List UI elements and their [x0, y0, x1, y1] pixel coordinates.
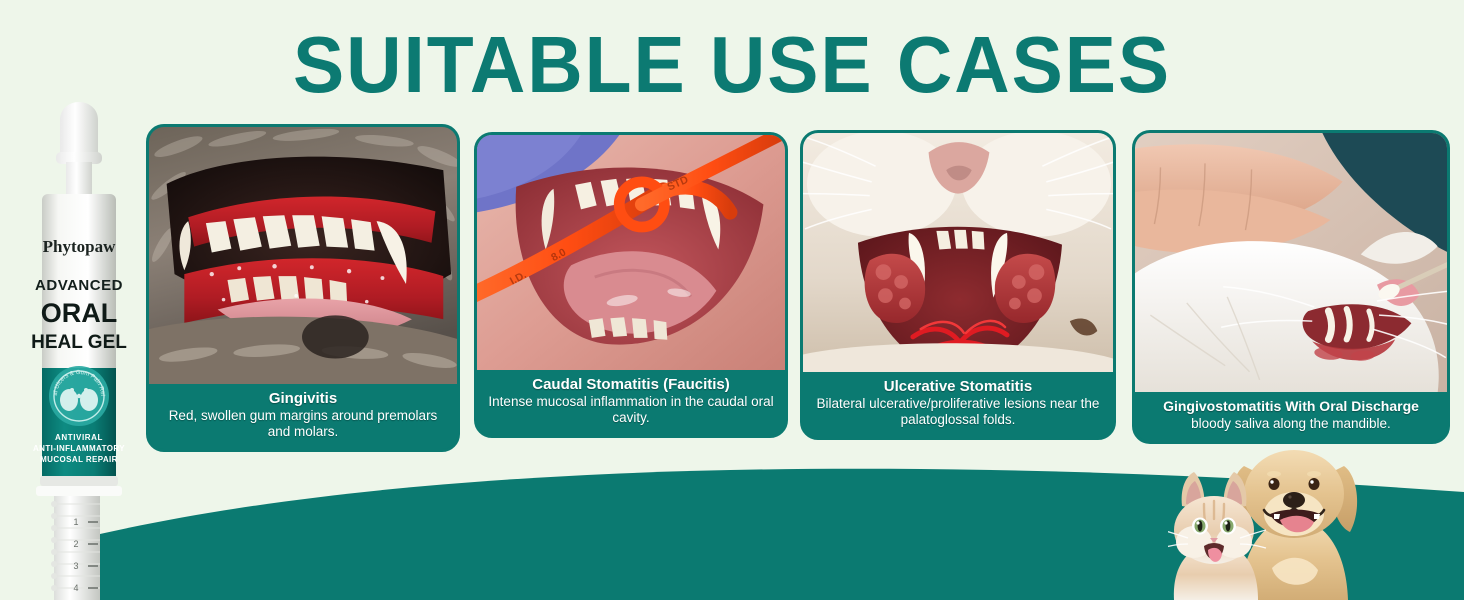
page-title: SUITABLE USE CASES [29, 22, 1434, 108]
product-benefit-3: MUCOSAL REPAIR [40, 455, 118, 464]
product-syringe: Phytopaw ADVANCED ORAL HEAL GEL Oral Ulc… [14, 100, 144, 600]
card-photo: I.D. 8.0 STD [477, 135, 785, 370]
product-benefit-2: ANTI-INFLAMMATORY [33, 444, 125, 453]
product-name-line1: ADVANCED [35, 277, 123, 294]
card-description: Intense mucosal inflammation in the caud… [485, 394, 777, 426]
card-title: Caudal Stomatitis (Faucitis) [485, 375, 777, 394]
card-photo [1135, 133, 1447, 392]
product-benefit-1: ANTIVIRAL [55, 433, 103, 442]
graduation-mark: 4 [73, 583, 78, 593]
card-title: Gingivostomatitis With Oral Discharge [1143, 397, 1439, 416]
card-description: Red, swollen gum margins around premolar… [157, 408, 449, 440]
card-title: Gingivitis [157, 389, 449, 408]
graduation-mark: 3 [73, 561, 78, 571]
pets-illustration [1168, 438, 1464, 600]
card-caption: Gingivitis Red, swollen gum margins arou… [149, 384, 457, 449]
card-caption: Gingivostomatitis With Oral Discharge bl… [1135, 392, 1447, 441]
product-brand: Phytopaw [43, 237, 116, 256]
product-name-line3: HEAL GEL [31, 332, 127, 353]
card-title: Ulcerative Stomatitis [811, 377, 1105, 396]
graduation-mark: 1 [73, 517, 78, 527]
use-case-card[interactable]: Gingivitis Red, swollen gum margins arou… [146, 124, 460, 452]
card-description: bloody saliva along the mandible. [1143, 416, 1439, 432]
use-case-card[interactable]: I.D. 8.0 STD Caudal Stomatitis (Faucitis… [474, 132, 788, 438]
card-photo [149, 127, 457, 384]
use-case-card[interactable]: Ulcerative Stomatitis Bilateral ulcerati… [800, 130, 1116, 440]
product-name-line2: ORAL [41, 298, 118, 328]
graduation-mark: 2 [73, 539, 78, 549]
card-description: Bilateral ulcerative/proliferative lesio… [811, 396, 1105, 428]
card-caption: Caudal Stomatitis (Faucitis) Intense muc… [477, 370, 785, 435]
use-case-card[interactable]: Gingivostomatitis With Oral Discharge bl… [1132, 130, 1450, 444]
card-photo [803, 133, 1113, 372]
card-caption: Ulcerative Stomatitis Bilateral ulcerati… [803, 372, 1113, 437]
